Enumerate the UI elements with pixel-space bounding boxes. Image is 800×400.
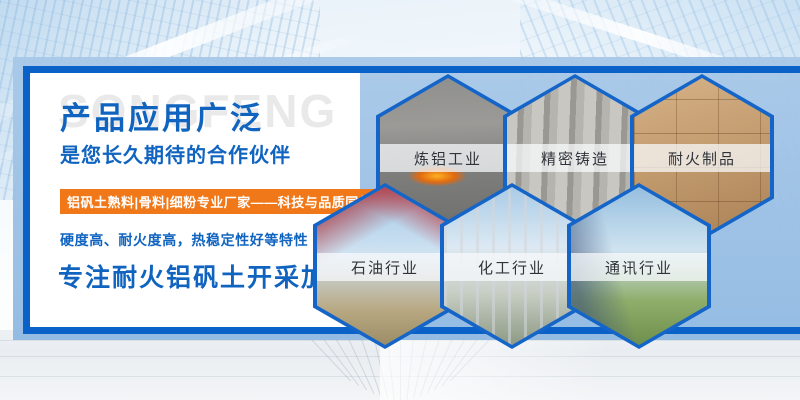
- main-tagline: 专注耐火铝矾土开采加工: [58, 266, 355, 291]
- hexagon-label-communication-industry: 通讯行业: [571, 253, 707, 281]
- promo-banner: SONGFENG 产品应用广泛 是您长久期待的合作伙伴 铝矾土熟料|骨料|细粉专…: [0, 0, 800, 400]
- headline: 产品应用广泛: [60, 103, 264, 134]
- hexagon-inner: 通讯行业: [571, 187, 707, 345]
- feature-text: 硬度高、耐火度高，热稳定性好等特性: [60, 233, 308, 247]
- hexagon-inner: 化工行业: [444, 187, 580, 345]
- hexagon-label-chemical-industry: 化工行业: [444, 253, 580, 281]
- hexagon-label-precision-casting: 精密铸造: [507, 144, 643, 172]
- hexagon-label-refractory-products: 耐火制品: [634, 144, 770, 172]
- hexagon-label-petroleum-industry: 石油行业: [317, 253, 453, 281]
- tagline-badge: 铝矾土熟料|骨料|细粉专业厂家——科技与品质同行: [60, 189, 379, 214]
- hexagon-inner: 石油行业: [317, 187, 453, 345]
- hexagon-label-alum-smelting: 炼铝工业: [380, 144, 516, 172]
- subheadline: 是您长久期待的合作伙伴: [60, 146, 291, 166]
